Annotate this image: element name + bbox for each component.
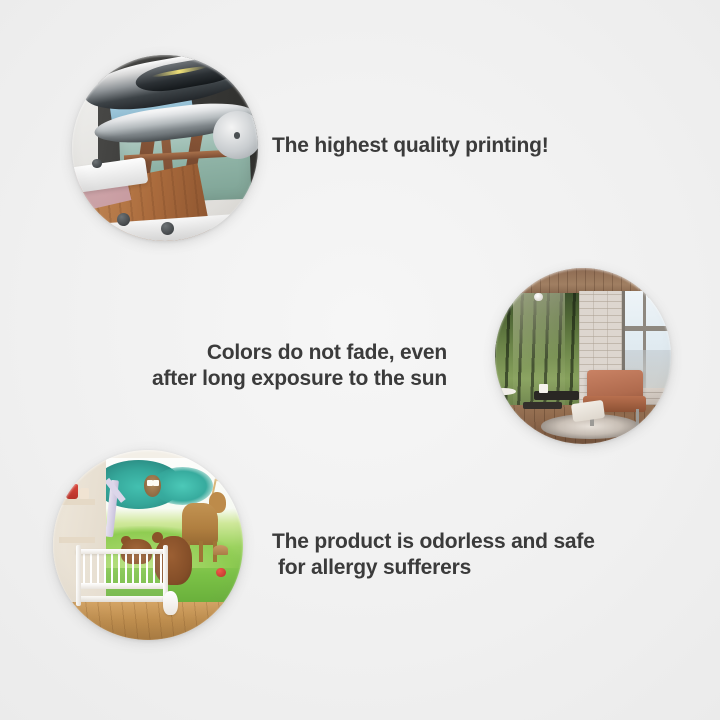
nursery-animals-mural-photo [53, 450, 243, 640]
forest-wall-mural [495, 293, 583, 420]
pendant-lamp [534, 293, 543, 302]
press-knob [117, 213, 130, 226]
caption-odorless-line-2: for allergy sufferers [272, 555, 595, 581]
living-room-scene [495, 268, 671, 444]
crib-bottom-rail [76, 596, 167, 602]
toy-rabbit [163, 591, 178, 616]
nursery-scene [53, 450, 243, 640]
mural-deer-leg [199, 541, 203, 562]
crib-top-rail [76, 549, 167, 555]
cream-storage-jar [80, 488, 90, 499]
mural-mushroom [213, 545, 228, 555]
red-storage-jar [66, 484, 77, 499]
round-side-table [495, 388, 516, 395]
crib-post [76, 545, 81, 606]
caption-printing: The highest quality printing! [272, 133, 549, 159]
press-roller-end-cap [213, 111, 258, 159]
wall-shelf [59, 499, 95, 505]
mural-deer-body [182, 503, 218, 545]
crib-bars [76, 553, 167, 585]
wooden-floor [53, 602, 243, 640]
wall-shelf [59, 537, 95, 543]
caption-colors-line-1: Colors do not fade, even [152, 340, 447, 366]
crib-middle-rail [76, 583, 167, 589]
chair-leg [636, 409, 640, 427]
side-coffee-table [523, 402, 562, 409]
living-room-forest-mural-photo [495, 268, 671, 444]
caption-odorless-line-1: The product is odorless and safe [272, 529, 595, 555]
caption-printing-line-1: The highest quality printing! [272, 133, 549, 159]
caption-odorless: The product is odorless and safe for all… [272, 529, 595, 581]
caption-colors: Colors do not fade, even after long expo… [152, 340, 447, 392]
promo-canvas: The highest quality printing! [0, 0, 720, 720]
caption-colors-line-2: after long exposure to the sun [152, 366, 447, 392]
coffee-cup [539, 384, 548, 393]
printing-press-scene [72, 55, 258, 241]
printing-press-photo [72, 55, 258, 241]
mural-ladybug [216, 568, 226, 578]
